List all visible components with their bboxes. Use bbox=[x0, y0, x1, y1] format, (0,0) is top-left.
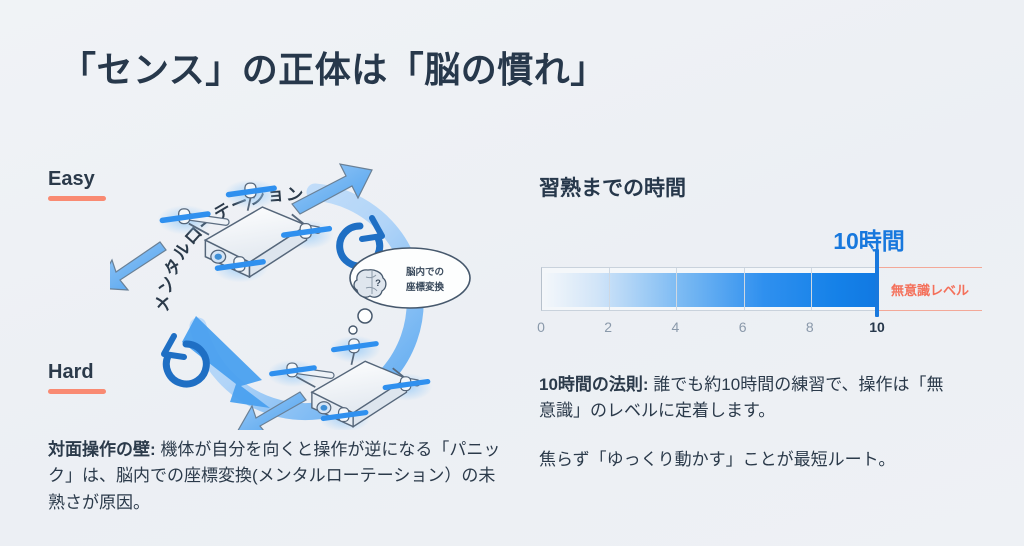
chart-threshold-marker bbox=[875, 249, 879, 317]
chart-gridline bbox=[811, 268, 812, 310]
chart-bar-fill bbox=[543, 273, 877, 307]
right-body-lead: 10時間の法則: bbox=[539, 375, 649, 394]
unconscious-level-band: 無意識レベル bbox=[877, 267, 982, 311]
chart-gridline bbox=[676, 268, 677, 310]
time-to-mastery-chart: 10時間 無意識レベル 0246810 bbox=[539, 222, 984, 342]
chart-tick-label: 10 bbox=[869, 319, 885, 335]
left-body-lead: 対面操作の壁: bbox=[48, 440, 156, 459]
chart-gridline bbox=[744, 268, 745, 310]
hard-underline bbox=[48, 389, 106, 394]
chart-tick-label: 4 bbox=[671, 319, 679, 335]
chart-gridline bbox=[609, 268, 610, 310]
bubble-line-2: 座標変換 bbox=[405, 281, 445, 293]
chart-tick-label: 0 bbox=[537, 319, 545, 335]
paragraph-spacer bbox=[539, 425, 959, 447]
bubble-line-1: 脳内での bbox=[405, 266, 444, 278]
band-line-top bbox=[877, 267, 982, 268]
slide-root: 「センス」の正体は「脳の慣れ」 Easy Hard bbox=[0, 0, 1024, 546]
easy-underline bbox=[48, 196, 106, 201]
chart-callout-label: 10時間 bbox=[833, 222, 905, 256]
right-body-paragraph-2: 焦らず「ゆっくり動かす」ことが最短ルート。 bbox=[539, 447, 959, 473]
chart-tick-label: 2 bbox=[604, 319, 612, 335]
easy-label: Easy bbox=[48, 168, 95, 191]
bubble-question-mark: ? bbox=[375, 278, 381, 289]
right-body-copy: 10時間の法則: 誰でも約10時間の練習で、操作は「無意識」のレベルに定着します… bbox=[539, 372, 959, 473]
chart-track bbox=[541, 267, 877, 311]
brain-icon bbox=[354, 270, 386, 297]
unconscious-level-label: 無意識レベル bbox=[891, 280, 969, 299]
page-title: 「センス」の正体は「脳の慣れ」 bbox=[60, 41, 607, 93]
left-body-copy: 対面操作の壁: 機体が自分を向くと操作が逆になる「パニック」は、脳内での座標変換… bbox=[48, 437, 503, 516]
section-heading: 習熟までの時間 bbox=[539, 172, 686, 202]
mental-rotation-diagram: メンタルローテーション bbox=[110, 130, 510, 430]
chart-tick-label: 6 bbox=[739, 319, 747, 335]
hard-label: Hard bbox=[48, 361, 94, 384]
band-line-bottom bbox=[877, 310, 982, 311]
chart-tick-label: 8 bbox=[806, 319, 814, 335]
right-body-paragraph-1: 10時間の法則: 誰でも約10時間の練習で、操作は「無意識」のレベルに定着します… bbox=[539, 372, 959, 425]
